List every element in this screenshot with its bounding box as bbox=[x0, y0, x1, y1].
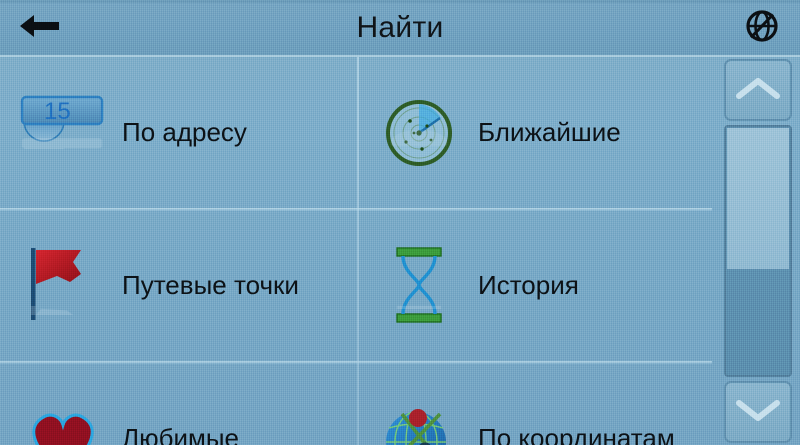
page-title: Найти bbox=[0, 0, 800, 55]
menu-item-history[interactable]: История bbox=[356, 210, 712, 361]
grid-divider-horizontal bbox=[0, 208, 712, 211]
menu-item-label: Путевые точки bbox=[122, 270, 299, 301]
menu-row: Путевые точки История bbox=[0, 210, 712, 361]
radar-clock-icon bbox=[370, 78, 468, 188]
svg-text:15: 15 bbox=[44, 98, 71, 125]
menu-item-label: По координатам bbox=[478, 423, 675, 445]
menu-item-by-coordinates[interactable]: По координатам bbox=[356, 363, 712, 445]
menu-item-favourites[interactable]: Любимые bbox=[0, 363, 356, 445]
grid-divider-vertical bbox=[357, 57, 359, 445]
menu-item-waypoints[interactable]: Путевые точки bbox=[0, 210, 356, 361]
gps-find-screen: Найти bbox=[0, 0, 800, 445]
scrollbar-thumb[interactable] bbox=[726, 127, 790, 270]
hourglass-icon bbox=[370, 231, 468, 341]
header-bar: Найти bbox=[0, 0, 800, 57]
heart-icon bbox=[14, 384, 112, 445]
menu-item-label: Ближайшие bbox=[478, 117, 621, 148]
chevron-down-icon bbox=[735, 397, 781, 428]
grid-divider-horizontal bbox=[0, 361, 712, 364]
scroll-down-button[interactable] bbox=[724, 381, 792, 443]
red-flag-icon bbox=[14, 231, 112, 341]
globe-crossed-icon bbox=[742, 6, 782, 51]
menu-grid: 15 По адресу bbox=[0, 57, 712, 445]
menu-item-nearby[interactable]: Ближайшие bbox=[356, 57, 712, 208]
house-number-sign-icon: 15 bbox=[14, 78, 112, 188]
globe-toggle-button[interactable] bbox=[734, 6, 790, 50]
menu-item-by-address[interactable]: 15 По адресу bbox=[0, 57, 356, 208]
menu-row: Любимые bbox=[0, 363, 712, 445]
menu-item-label: Любимые bbox=[122, 423, 239, 445]
scrollbar-track[interactable] bbox=[724, 125, 792, 377]
menu-item-label: История bbox=[478, 270, 579, 301]
menu-row: 15 По адресу bbox=[0, 57, 712, 208]
globe-pins-icon bbox=[370, 384, 468, 445]
scroll-up-button[interactable] bbox=[724, 59, 792, 121]
chevron-up-icon bbox=[735, 75, 781, 106]
scrollbar[interactable] bbox=[712, 57, 800, 445]
menu-item-label: По адресу bbox=[122, 117, 247, 148]
